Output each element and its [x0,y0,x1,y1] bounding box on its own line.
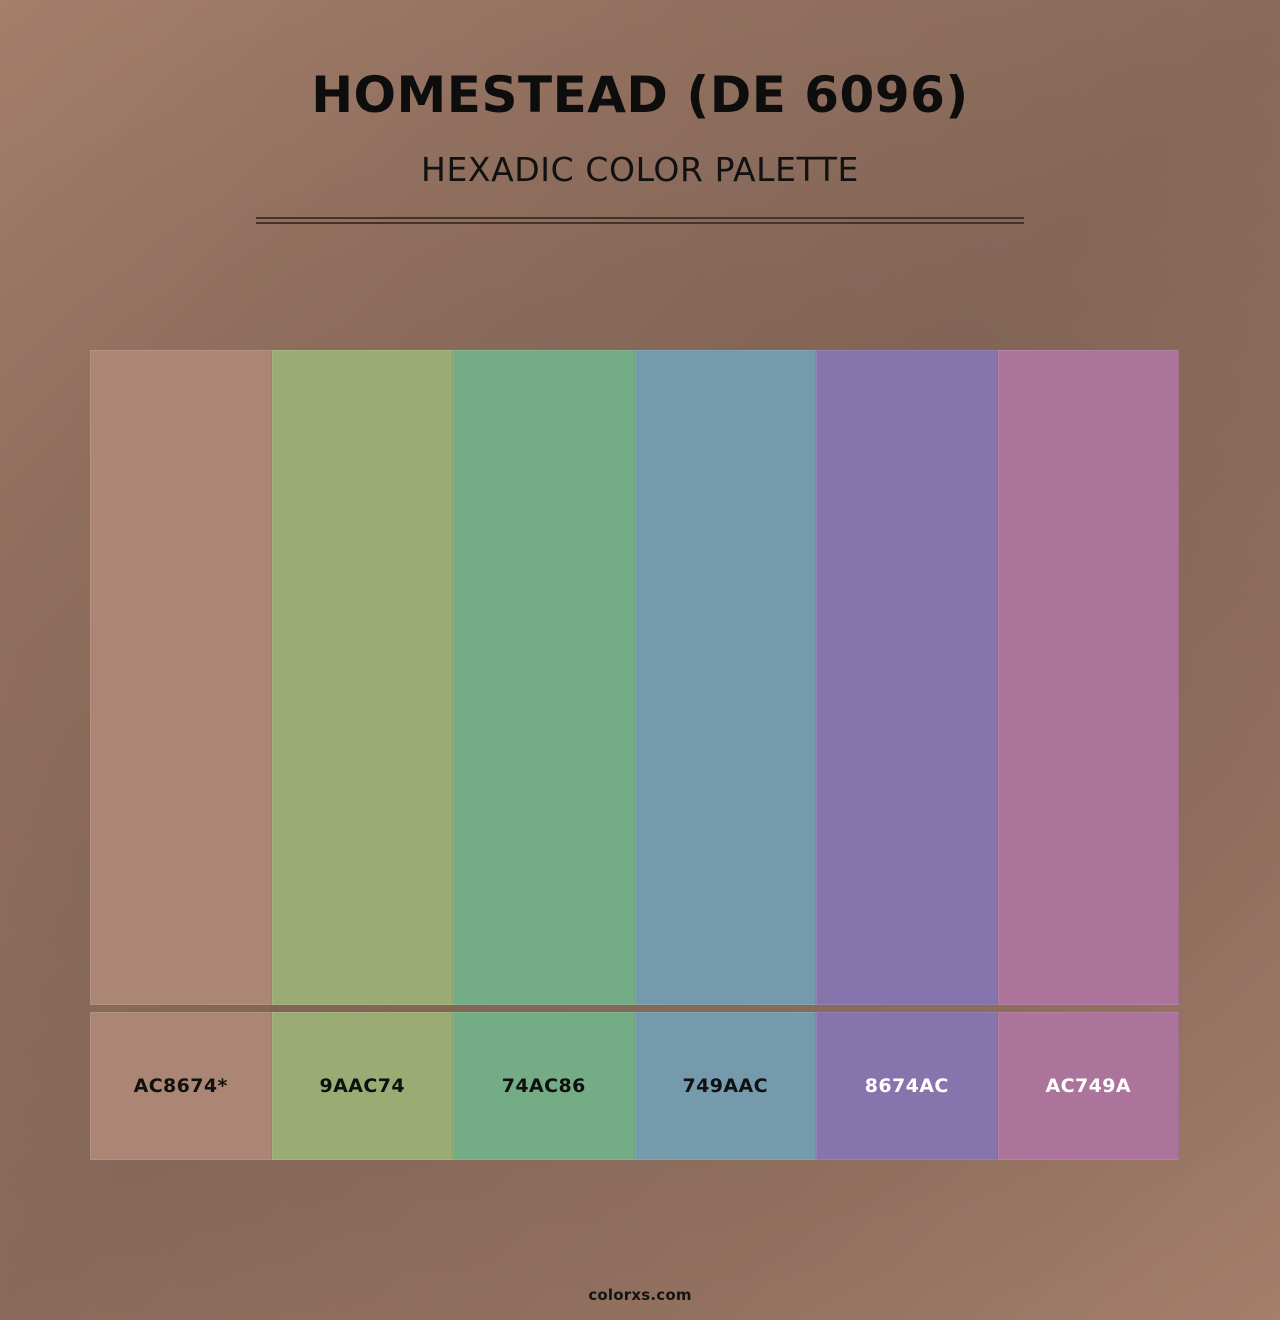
page-title: HOMESTEAD (DE 6096) [0,66,1280,125]
color-swatch[interactable] [90,350,272,1005]
page-footer: colorxs.com [0,1285,1280,1304]
color-label-cell[interactable]: 749AAC [635,1012,817,1160]
palette-page: HOMESTEAD (DE 6096) HEXADIC COLOR PALETT… [0,0,1280,1320]
color-hex-label: AC749A [1046,1077,1131,1096]
label-row: AC8674*9AAC7474AC86749AAC8674ACAC749A [90,1012,1179,1160]
swatch-label-gap [90,1005,1179,1012]
page-subtitle: HEXADIC COLOR PALETTE [0,150,1280,190]
color-label-cell[interactable]: AC8674* [90,1012,272,1160]
color-hex-label: 74AC86 [502,1077,586,1096]
color-label-cell[interactable]: 74AC86 [453,1012,635,1160]
header-divider [256,217,1024,224]
color-swatch[interactable] [998,350,1180,1005]
color-swatch[interactable] [453,350,635,1005]
color-swatch[interactable] [635,350,817,1005]
color-label-cell[interactable]: 8674AC [816,1012,998,1160]
site-credit: colorxs.com [588,1286,691,1304]
color-palette: AC8674*9AAC7474AC86749AAC8674ACAC749A [90,350,1179,1160]
color-swatch[interactable] [272,350,454,1005]
color-label-cell[interactable]: AC749A [998,1012,1180,1160]
color-swatch[interactable] [816,350,998,1005]
swatch-row [90,350,1179,1005]
divider-line-top [256,217,1024,219]
divider-line-bottom [256,222,1024,224]
page-header: HOMESTEAD (DE 6096) HEXADIC COLOR PALETT… [0,0,1280,224]
color-hex-label: AC8674* [134,1077,228,1096]
color-hex-label: 749AAC [683,1077,768,1096]
color-hex-label: 9AAC74 [320,1077,405,1096]
color-label-cell[interactable]: 9AAC74 [272,1012,454,1160]
color-hex-label: 8674AC [865,1077,949,1096]
